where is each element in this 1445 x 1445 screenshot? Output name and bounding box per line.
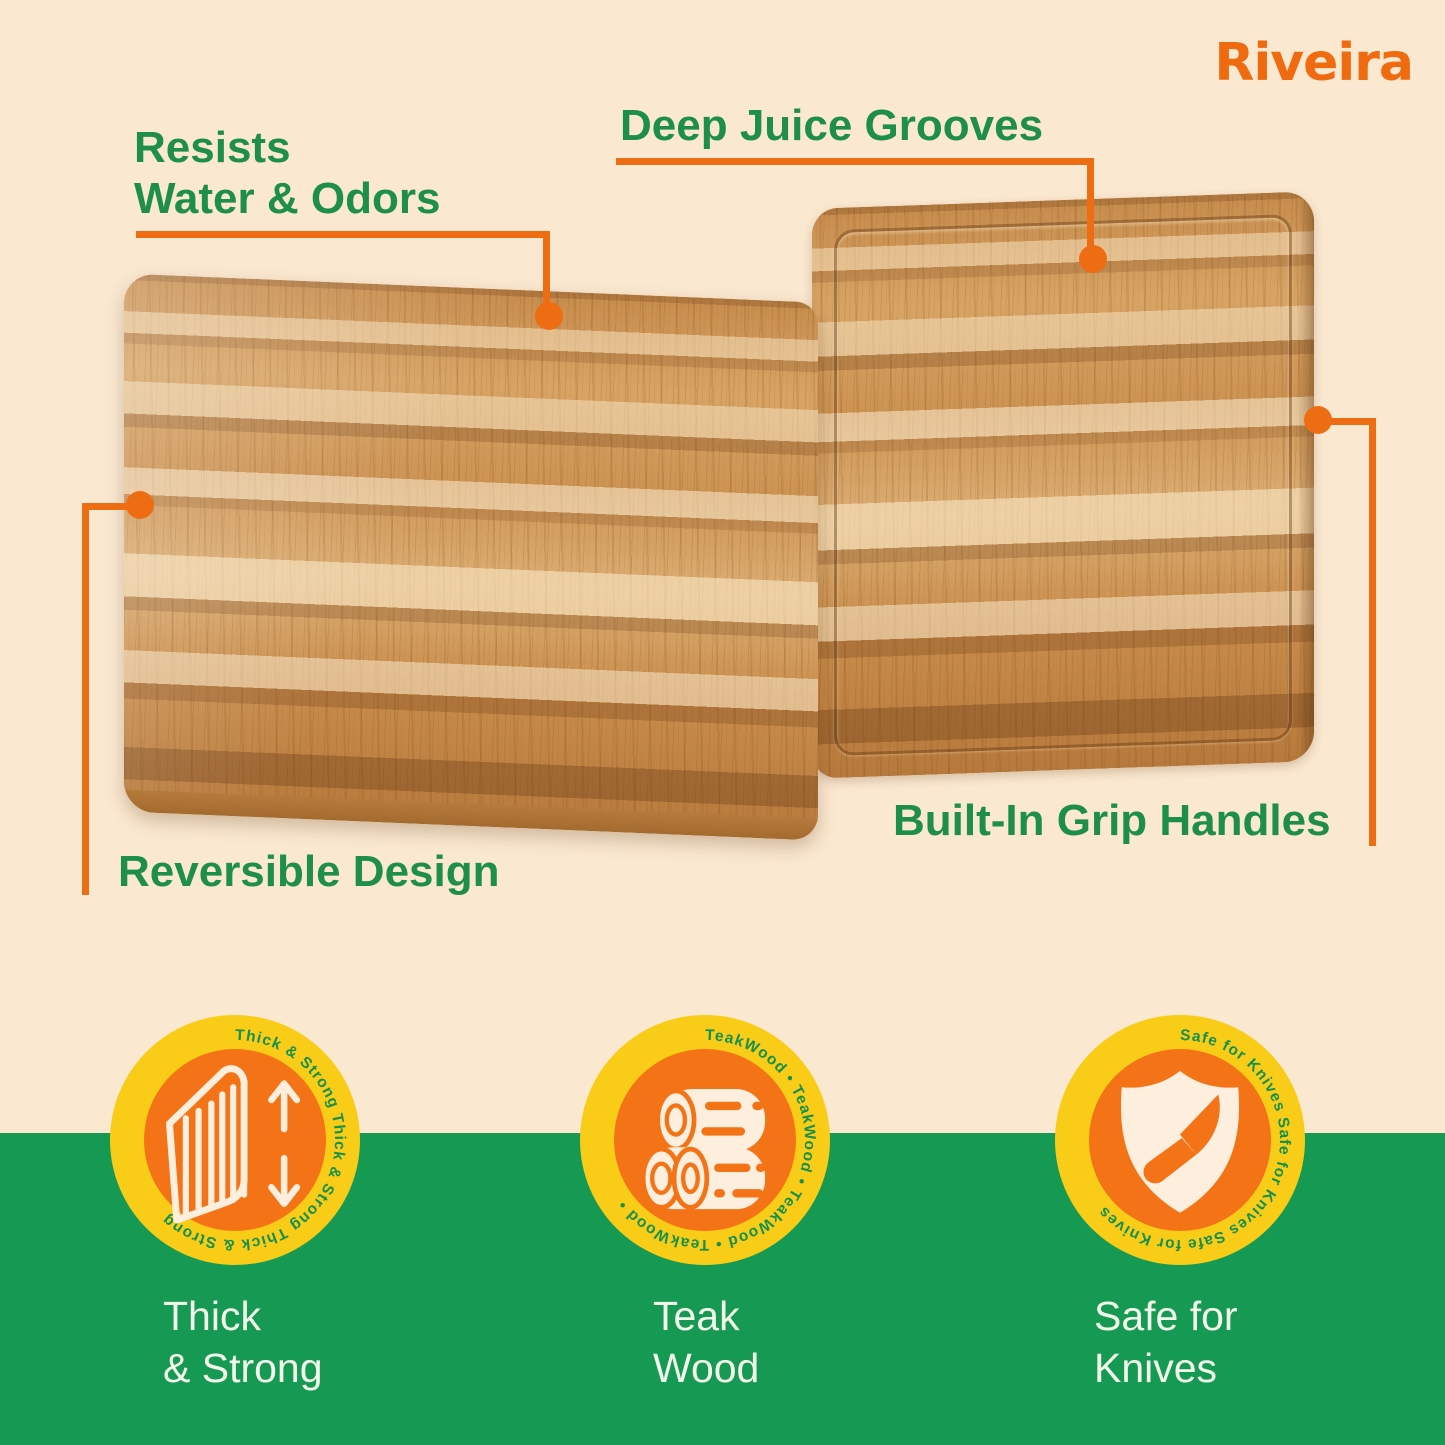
badge-caption-safe-knives: Safe for Knives — [1094, 1290, 1238, 1395]
callout-reversible-design: Reversible Design — [118, 846, 500, 897]
connector-dot-reversible — [126, 491, 154, 519]
juice-groove — [834, 214, 1292, 756]
board-edge — [1298, 191, 1314, 762]
connector-dot-resists-water — [535, 302, 563, 330]
badge-caption-thick-strong: Thick & Strong — [163, 1290, 323, 1395]
wood-logs-icon — [614, 1049, 796, 1231]
connector-dot-juice-grooves — [1079, 245, 1107, 273]
callout-deep-juice-grooves: Deep Juice Grooves — [620, 100, 1043, 151]
badge-teak-wood: TeakWood • TeakWood • TeakWood • TeakWoo… — [580, 1015, 830, 1265]
connector-line-reversible-vertical — [82, 503, 89, 895]
infographic-canvas: Riveira Resists Water & Odors Deep Juice… — [0, 0, 1445, 1445]
board-gloss — [124, 273, 818, 840]
cutting-board-front — [124, 273, 818, 840]
cutting-board-back — [812, 191, 1314, 779]
badge-caption-teak-wood: Teak Wood — [653, 1290, 759, 1395]
callout-built-in-grip-handles: Built-In Grip Handles — [893, 795, 1331, 846]
badge-thick-strong: Thick & Strong Thick & Strong Thick & St… — [110, 1015, 360, 1265]
badge-safe-for-knives: Safe for Knives Safe for Knives Safe for… — [1055, 1015, 1305, 1265]
connector-dot-grip-handles — [1304, 406, 1332, 434]
brand-logo: Riveira — [1214, 33, 1413, 93]
thick-board-icon — [144, 1049, 326, 1231]
callout-resists-water-odors: Resists Water & Odors — [134, 122, 440, 224]
connector-line-grip-handles-vertical — [1369, 418, 1376, 846]
connector-line-juice-grooves-vertical — [1087, 158, 1094, 258]
shield-knife-icon — [1089, 1049, 1271, 1231]
connector-line-resists-water — [136, 231, 550, 238]
connector-line-juice-grooves — [616, 158, 1094, 165]
board-thickness-edge — [124, 789, 818, 840]
